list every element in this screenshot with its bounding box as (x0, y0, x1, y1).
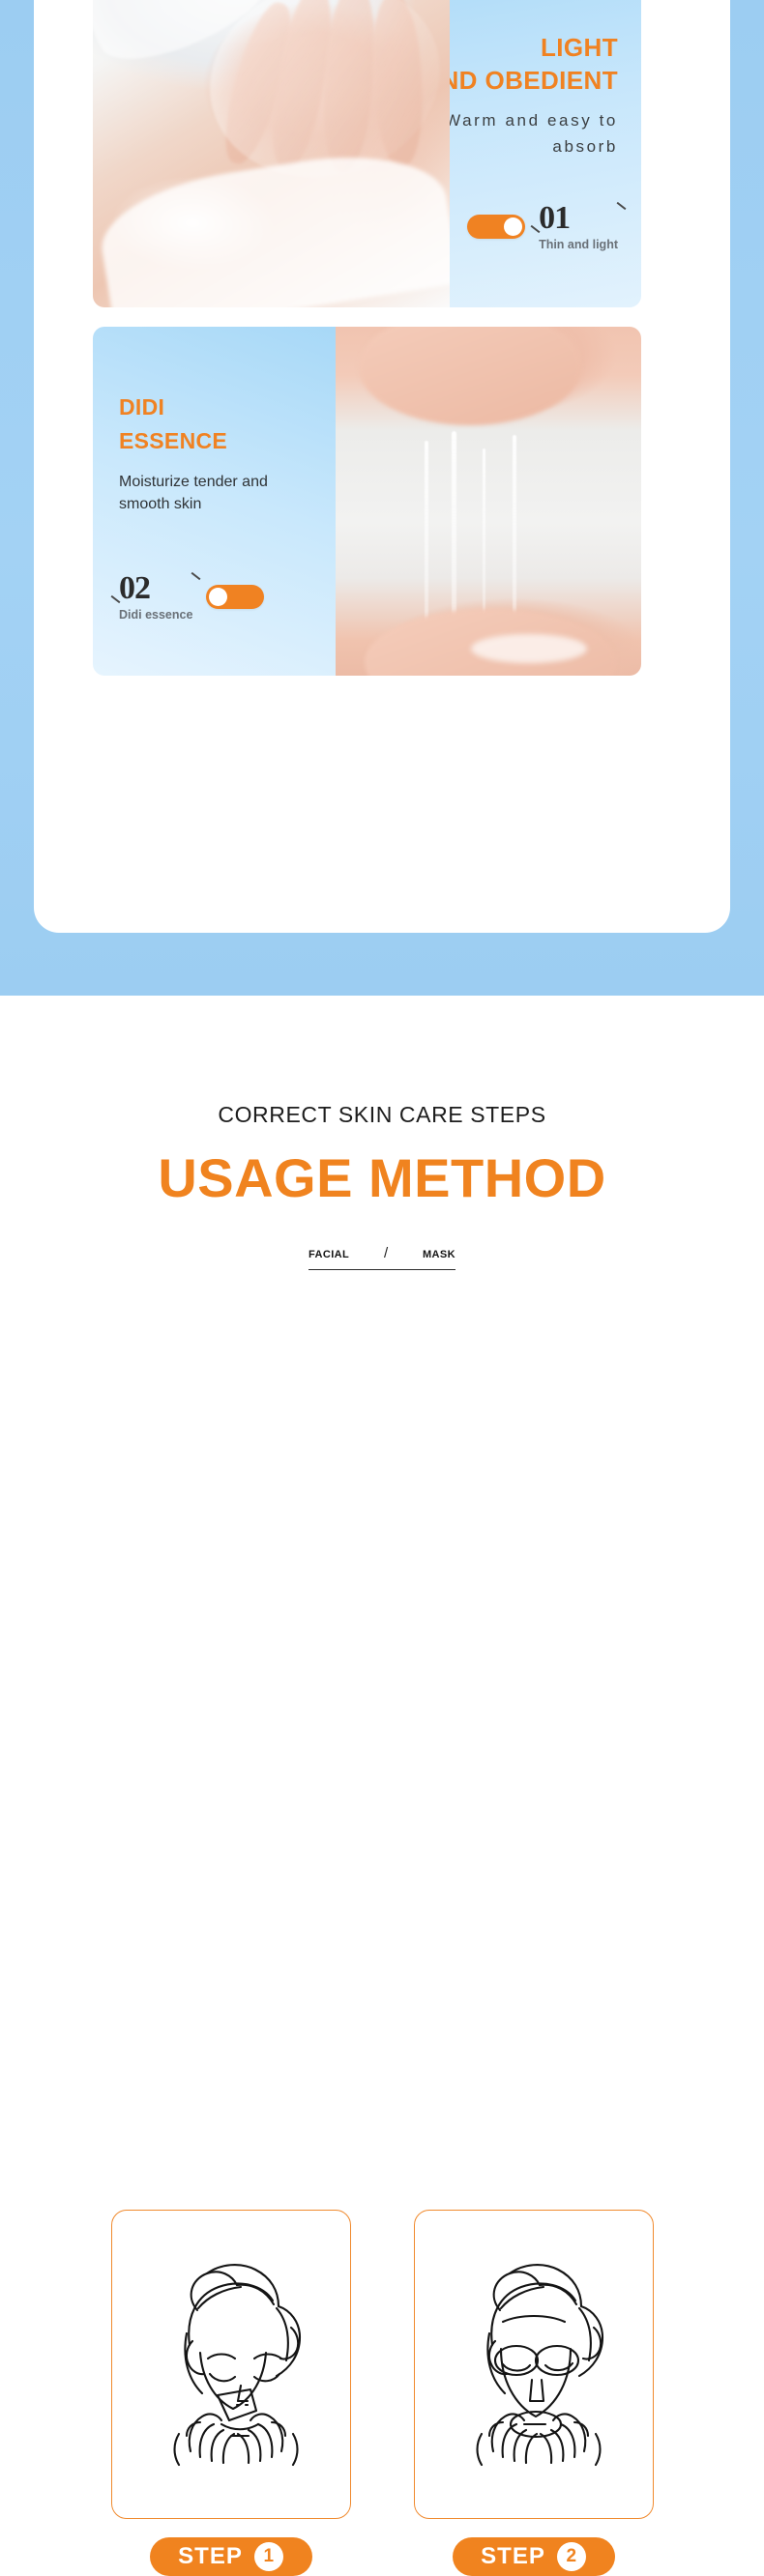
hand-with-sheet-mask-photo (93, 0, 450, 307)
feature-card-2-stat-text: 02 Didi essence (119, 572, 192, 622)
usage-step-2-illustration-box (414, 2210, 654, 2519)
usage-step-1: STEP 1 (111, 2210, 351, 2519)
slash-icon: / (384, 1245, 388, 1261)
usage-title: USAGE METHOD (0, 1151, 764, 1205)
feature-card-2-number-wrap: 02 (119, 572, 192, 605)
toggle-switch-thin-and-light[interactable] (467, 215, 525, 239)
feature-card-2-body: DIDI ESSENCE Moisturize tender and smoot… (93, 327, 336, 676)
feature-card-1-title: LIGHT AND OBEDIENT (450, 31, 618, 98)
feature-card-1-stat-text: 01 Thin and light (539, 202, 618, 251)
feature-card-1-photo (93, 0, 450, 307)
toggle-knob-icon (504, 217, 522, 236)
toggle-switch-didi-essence[interactable] (206, 585, 264, 609)
feature-card-1-number: 01 (539, 200, 570, 236)
feature-card-1-stat-row: 01 Thin and light (467, 202, 618, 251)
toggle-knob-icon (209, 588, 227, 606)
feature-card-2-stat-label: Didi essence (119, 608, 192, 622)
feature-card-1-stat-label: Thin and light (539, 238, 618, 251)
step-2-number: 2 (557, 2542, 586, 2571)
feature-card-1-body: LIGHT AND OBEDIENT Warm and easy to abso… (450, 0, 641, 307)
feature-card-2-stat-row: 02 Didi essence (119, 572, 264, 622)
step-2-word: STEP (481, 2543, 545, 2570)
face-cleansing-pad-icon (136, 2252, 326, 2476)
usage-kicker: CORRECT SKIN CARE STEPS (0, 1102, 764, 1128)
facial-label: FACIAL (309, 1249, 349, 1260)
tick-right-icon (617, 202, 627, 210)
top-blue-section: LIGHT AND OBEDIENT Warm and easy to abso… (0, 0, 764, 996)
feature-card-2-subtitle: Moisturize tender and smooth skin (119, 471, 327, 515)
usage-method-section: CORRECT SKIN CARE STEPS USAGE METHOD FAC… (0, 996, 764, 1741)
feature-card-didi-essence: DIDI ESSENCE Moisturize tender and smoot… (93, 327, 641, 676)
feature-card-1-number-wrap: 01 (539, 202, 618, 235)
step-1-pill: STEP 1 (150, 2537, 312, 2576)
tick-right-icon (191, 572, 201, 580)
essence-dripping-photo (336, 327, 641, 676)
feature-card-2-number: 02 (119, 570, 150, 606)
feature-card-2-text: DIDI ESSENCE Moisturize tender and smoot… (119, 391, 327, 515)
feature-white-panel: LIGHT AND OBEDIENT Warm and easy to abso… (34, 0, 730, 933)
step-2-pill: STEP 2 (453, 2537, 615, 2576)
feature-card-1-subtitle: Warm and easy to absorb (450, 107, 618, 159)
usage-step-1-illustration-box (111, 2210, 351, 2519)
usage-step-2: STEP 2 (414, 2210, 654, 2519)
step-1-word: STEP (178, 2543, 243, 2570)
feature-card-light-and-obedient: LIGHT AND OBEDIENT Warm and easy to abso… (93, 0, 641, 307)
step-1-number: 1 (254, 2542, 283, 2571)
usage-steps: STEP 1 (0, 2210, 764, 2519)
facial-mask-label: FACIAL / MASK (309, 1246, 455, 1270)
mask-label: MASK (423, 1249, 455, 1260)
feature-card-1-text: LIGHT AND OBEDIENT Warm and easy to abso… (450, 31, 618, 159)
face-sheet-mask-icon (439, 2252, 629, 2476)
feature-card-2-photo (336, 327, 641, 676)
feature-card-2-title: DIDI ESSENCE (119, 391, 327, 457)
